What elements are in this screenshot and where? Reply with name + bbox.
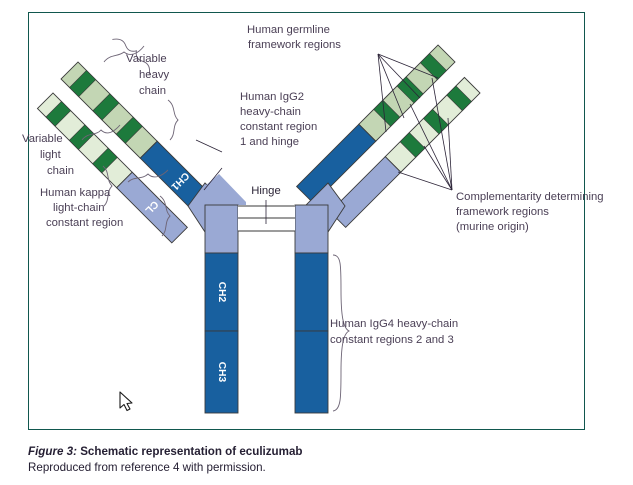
label-variable-light-line2: light — [40, 149, 62, 161]
label-igg2-line1: Human IgG2 — [240, 91, 304, 103]
label-cdr-line1: Complementarity determining — [456, 191, 604, 203]
label-kappa-line3: constant region — [46, 217, 123, 229]
label-cdr-line2: framework regions — [456, 206, 549, 218]
label-germline-line1: Human germline — [247, 24, 330, 36]
left-stem-hinge-section — [205, 205, 238, 253]
label-igg2-line4: 1 and hinge — [240, 136, 299, 148]
label-igg4-line2: constant regions 2 and 3 — [330, 334, 454, 346]
label-kappa-line2: light-chain — [53, 202, 105, 214]
lead-cdr-5 — [398, 172, 452, 190]
brace-igg4 — [333, 255, 349, 411]
figure-caption: Figure 3: Schematic representation of ec… — [28, 444, 588, 476]
label-kappa-line1: Human kappa — [40, 187, 111, 199]
label-igg4-line1: Human IgG4 heavy-chain — [330, 318, 458, 330]
label-igg2-line2: heavy-chain — [240, 106, 301, 118]
right-ch2-domain — [295, 253, 328, 331]
ch2-label: CH2 — [216, 282, 227, 303]
caption-title-line: Figure 3: Schematic representation of ec… — [28, 444, 588, 459]
lead-igg2-ch1 — [196, 140, 222, 152]
ch3-label: CH3 — [216, 362, 227, 383]
label-variable-heavy-line3: chain — [139, 85, 166, 97]
label-variable-light-line3: chain — [47, 165, 74, 177]
right-stem-hinge-section — [295, 205, 328, 253]
caption-title-text: Schematic representation of eculizumab — [80, 445, 302, 458]
brace-vh-right — [168, 100, 178, 140]
caption-figure-number: Figure 3: — [28, 445, 77, 458]
label-germline-line2: framework regions — [248, 39, 341, 51]
label-cdr-line3: (murine origin) — [456, 221, 529, 233]
caption-credit: Reproduced from reference 4 with permiss… — [28, 460, 588, 475]
label-igg2-line3: constant region — [240, 121, 317, 133]
label-variable-light-line1: Variable — [22, 133, 63, 145]
label-variable-heavy-line1: Variable — [126, 53, 167, 65]
mouse-cursor — [120, 392, 132, 411]
right-ch3-domain — [295, 331, 328, 413]
label-variable-heavy-line2: heavy — [139, 69, 169, 81]
antibody-diagram: CH1 CL CH2 — [0, 0, 633, 485]
hinge-label: Hinge — [251, 185, 281, 197]
